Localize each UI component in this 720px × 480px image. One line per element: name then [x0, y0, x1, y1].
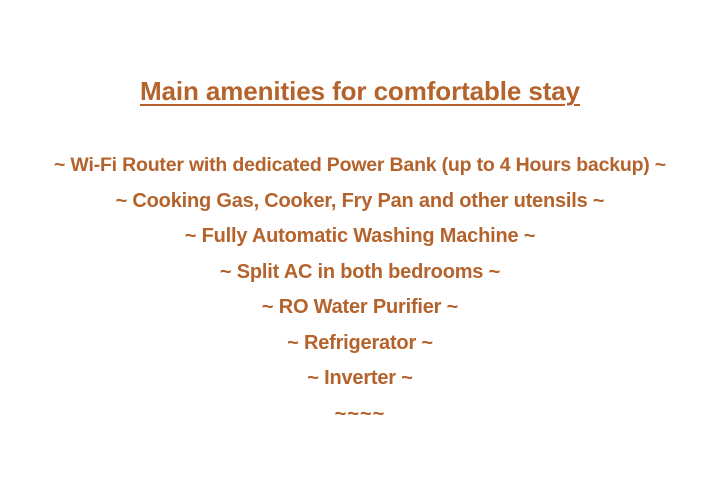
- list-item: ~ Inverter ~: [0, 361, 720, 397]
- footer-decoration: ~~~~: [0, 397, 720, 433]
- list-item: ~ Split AC in both bedrooms ~: [0, 255, 720, 291]
- list-item: ~ RO Water Purifier ~: [0, 290, 720, 326]
- list-item: ~ Fully Automatic Washing Machine ~: [0, 219, 720, 255]
- page-title: Main amenities for comfortable stay: [140, 76, 580, 106]
- list-item: ~ Refrigerator ~: [0, 326, 720, 362]
- amenities-page: Main amenities for comfortable stay ~ Wi…: [0, 0, 720, 480]
- list-item: ~ Wi-Fi Router with dedicated Power Bank…: [0, 148, 720, 184]
- page-title-container: Main amenities for comfortable stay: [0, 76, 720, 106]
- list-item: ~ Cooking Gas, Cooker, Fry Pan and other…: [0, 184, 720, 220]
- amenities-list: ~ Wi-Fi Router with dedicated Power Bank…: [0, 148, 720, 432]
